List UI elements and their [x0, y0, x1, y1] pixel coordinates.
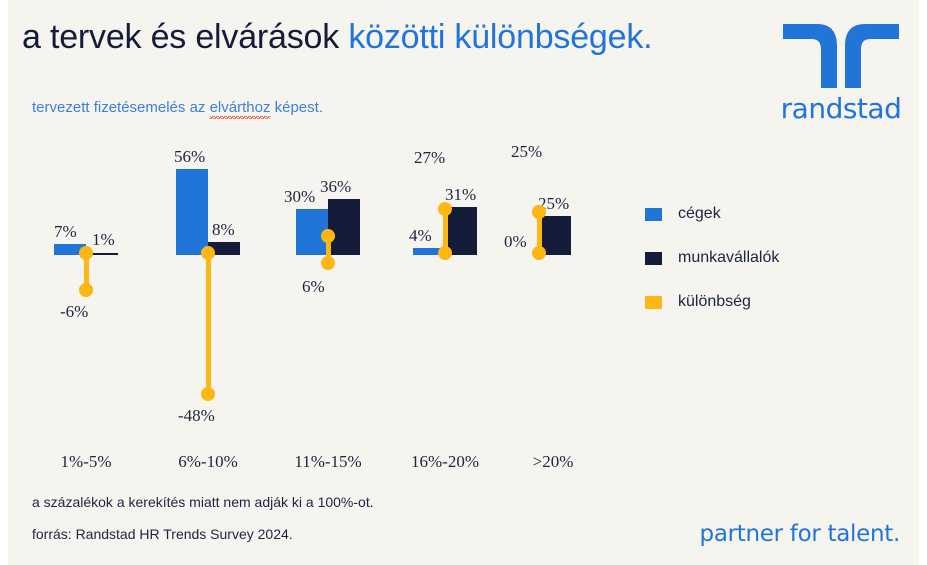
difference-dot-bottom-1-5 — [79, 283, 93, 297]
value-label-companies-11-15: 30% — [284, 187, 315, 207]
legend-label-munkavallalok: munkavállalók — [678, 249, 779, 267]
legend-swatch-cegek — [645, 208, 662, 221]
footnote-source: forrás: Randstad HR Trends Survey 2024. — [32, 526, 374, 542]
value-label-employees-1-5: 1% — [92, 230, 115, 250]
randstad-logo: randstad — [779, 20, 903, 124]
value-label-employees-11-15: 36% — [320, 177, 351, 197]
difference-line-6-10 — [206, 252, 211, 395]
difference-dot-bottom-16-20 — [438, 246, 452, 260]
difference-dot-bottom-11-15 — [321, 256, 335, 270]
slide-canvas: a tervek és elvárások közötti különbsége… — [0, 0, 927, 565]
footnotes: a százalékok a kerekítés miatt nem adják… — [32, 494, 374, 558]
subtitle-misspelled-word: elvárthoz — [210, 99, 271, 119]
randstad-mark-icon — [779, 20, 903, 92]
page-title: a tervek és elvárások közötti különbsége… — [22, 18, 652, 57]
bar-employees-11-15 — [328, 199, 360, 255]
legend-label-kulonbseg: különbség — [678, 293, 751, 311]
value-label-difference-11-15: 6% — [302, 277, 325, 297]
bar-group-16-20: 4% 31% 27% 16%-20% — [413, 120, 477, 450]
difference-dot-top-over-20 — [532, 205, 546, 219]
value-label-companies-1-5: 7% — [54, 222, 77, 242]
subtitle-before-text: tervezett fizetésemelés az — [32, 99, 210, 116]
value-label-employees-6-10: 8% — [212, 220, 235, 240]
bar-group-over-20: 0% 25% 25% >20% — [526, 120, 590, 450]
x-axis-label-11-15: 11%-15% — [294, 452, 361, 472]
randstad-wordmark: randstad — [779, 94, 903, 124]
bar-companies-6-10 — [176, 169, 208, 255]
legend-item-munkavallalok[interactable]: munkavállalók — [645, 249, 779, 267]
difference-dot-bottom-6-10 — [201, 387, 215, 401]
value-label-companies-over-20: 0% — [504, 232, 527, 252]
x-axis-label-6-10: 6%-10% — [178, 452, 237, 472]
title-dark-text: a tervek és elvárások — [22, 18, 348, 56]
legend-item-cegek[interactable]: cégek — [645, 205, 779, 223]
subtitle-after-text: képest. — [270, 99, 323, 116]
difference-dot-bottom-over-20 — [532, 246, 546, 260]
tagline: partner for talent. — [700, 521, 900, 547]
chart-legend: cégek munkavállalók különbség — [645, 205, 779, 337]
title-blue-text: közötti különbségek. — [348, 18, 652, 56]
difference-dot-top-16-20 — [438, 202, 452, 216]
bar-group-11-15: 30% 36% 6% 11%-15% — [296, 120, 360, 450]
footnote-rounding: a százalékok a kerekítés miatt nem adják… — [32, 494, 374, 510]
x-axis-label-over-20: >20% — [533, 452, 574, 472]
bar-group-1-5: 7% 1% -6% 1%-5% — [54, 120, 118, 450]
value-label-companies-16-20: 4% — [409, 226, 432, 246]
value-label-difference-1-5: -6% — [60, 302, 88, 322]
legend-item-kulonbseg[interactable]: különbség — [645, 293, 779, 311]
legend-label-cegek: cégek — [678, 205, 721, 223]
value-label-employees-16-20: 31% — [445, 185, 476, 205]
difference-dot-top-6-10 — [201, 246, 215, 260]
x-axis-label-1-5: 1%-5% — [61, 452, 112, 472]
difference-dot-top-1-5 — [79, 246, 93, 260]
value-label-difference-16-20: 27% — [414, 148, 445, 168]
legend-swatch-munkavallalok — [645, 252, 662, 265]
value-label-companies-6-10: 56% — [174, 147, 205, 167]
legend-swatch-kulonbseg — [645, 296, 662, 309]
value-label-difference-over-20: 25% — [511, 142, 542, 162]
value-label-difference-6-10: -48% — [178, 406, 215, 426]
bar-group-6-10: 56% 8% -48% 6%-10% — [176, 120, 240, 450]
x-axis-label-16-20: 16%-20% — [411, 452, 479, 472]
grouped-bar-chart: 7% 1% -6% 1%-5% 56% 8% -48% 6%-10% — [8, 120, 628, 450]
subtitle: tervezett fizetésemelés az elvárthoz kép… — [32, 99, 323, 116]
difference-dot-top-11-15 — [321, 229, 335, 243]
